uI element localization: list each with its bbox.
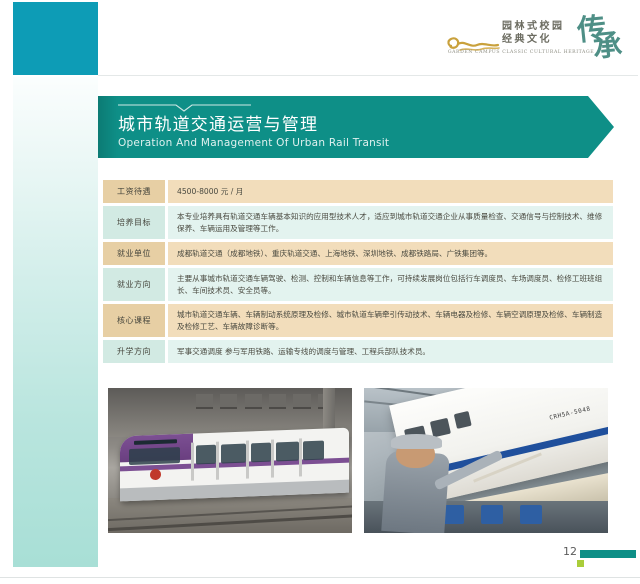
floor-equipment [520,505,542,524]
table-row: 就业方向 主要从事城市轨道交通车辆驾驶、检测、控制和车辆信息等工作，可持续发展岗… [103,268,613,301]
sidebar-gradient-panel [13,77,98,567]
train-door-seam [191,442,194,480]
train-window [430,418,451,437]
train-front-emblem [150,468,161,479]
table-row: 核心课程 城市轨道交通车辆、车辆制动系统原理及检修、城市轨道车辆牵引传动技术、车… [103,304,613,337]
page-number: 12 [563,545,577,558]
title-banner: 城市轨道交通运营与管理 Operation And Management Of … [98,96,614,158]
row-label: 工资待遇 [103,180,165,203]
logo-english-text: GARDEN CAMPUS CLASSIC CULTURAL HERITAGE [446,50,596,55]
photo-maintenance-worker: CRH5A-5048 [364,388,608,533]
photo-metro-train [108,388,352,533]
row-value: 本专业培养具有轨道交通车辆基本知识的应用型技术人才，适应到城市轨道交通企业从事质… [168,206,613,239]
page-subtitle: Operation And Management Of Urban Rail T… [118,137,389,150]
train-door-seam [299,438,302,476]
train-window [304,440,325,460]
train-window [276,441,299,461]
row-value: 军事交通调度 参与军用铁路、运输专线的调度与管理、工程兵部队技术员。 [168,340,613,363]
row-value: 成都轨道交通（成都地铁）、重庆轨道交通、上海地铁、深圳地铁、成都铁路局、广铁集团… [168,242,613,265]
page-title: 城市轨道交通运营与管理 [118,115,318,135]
ceiling-beam [220,394,237,409]
logo-chinese-text: 园林式校园 经典文化 [502,20,565,46]
slide-root: 园林式校园 经典文化 GARDEN CAMPUS CLASSIC CULTURA… [0,0,640,584]
table-row: 就业单位 成都轨道交通（成都地铁）、重庆轨道交通、上海地铁、深圳地铁、成都铁路局… [103,242,613,265]
ceiling-beam [245,394,262,409]
ceiling-beam [196,394,213,409]
worker-cap [391,434,442,449]
row-label: 核心课程 [103,304,165,337]
train-window [453,411,472,429]
train-car-body [120,427,349,501]
cab-windscreen [129,447,179,465]
banner-divider-line-icon [118,103,251,112]
floor-equipment [481,505,503,524]
logo-line-1: 园林式校园 [502,20,565,33]
row-value: 4500-8000 元 / 月 [168,180,613,203]
seal-char-2: 承 [592,32,628,59]
train-door-seam [246,440,249,478]
train-door-seam [272,439,275,477]
logo-line-2: 经典文化 [502,33,565,46]
train-window [196,444,217,464]
table-row: 工资待遇 4500-8000 元 / 月 [103,180,613,203]
row-value: 主要从事城市轨道交通车辆驾驶、检测、控制和车辆信息等工作，可持续发展岗位包括行车… [168,268,613,301]
row-label: 升学方向 [103,340,165,363]
header-bar: 园林式校园 经典文化 GARDEN CAMPUS CLASSIC CULTURA… [98,2,638,76]
row-label: 培养目标 [103,206,165,239]
banner-inner-shadow [98,96,118,158]
page-accent-bar [580,550,636,558]
train-window [221,443,246,464]
train-window [251,442,272,462]
logo-calligraphy-seal: 传 承 [576,14,628,61]
table-row: 升学方向 军事交通调度 参与军用铁路、运输专线的调度与管理、工程兵部队技术员。 [103,340,613,363]
row-label: 就业单位 [103,242,165,265]
row-label: 就业方向 [103,268,165,301]
page-accent-square [577,560,584,567]
ceiling-beam [293,394,310,409]
row-value: 城市轨道交通车辆、车辆制动系统原理及检修、城市轨道车辆牵引传动技术、车辆电器及检… [168,304,613,337]
sidebar-cyan-block [13,2,98,75]
info-table: 工资待遇 4500-8000 元 / 月 培养目标 本专业培养具有轨道交通车辆基… [103,180,613,366]
train-door-seam [217,441,220,479]
table-row: 培养目标 本专业培养具有轨道交通车辆基本知识的应用型技术人才，适应到城市轨道交通… [103,206,613,239]
brand-logo: 园林式校园 经典文化 GARDEN CAMPUS CLASSIC CULTURA… [446,20,624,66]
page-bottom-margin [0,577,640,584]
ceiling-beam [269,394,286,409]
